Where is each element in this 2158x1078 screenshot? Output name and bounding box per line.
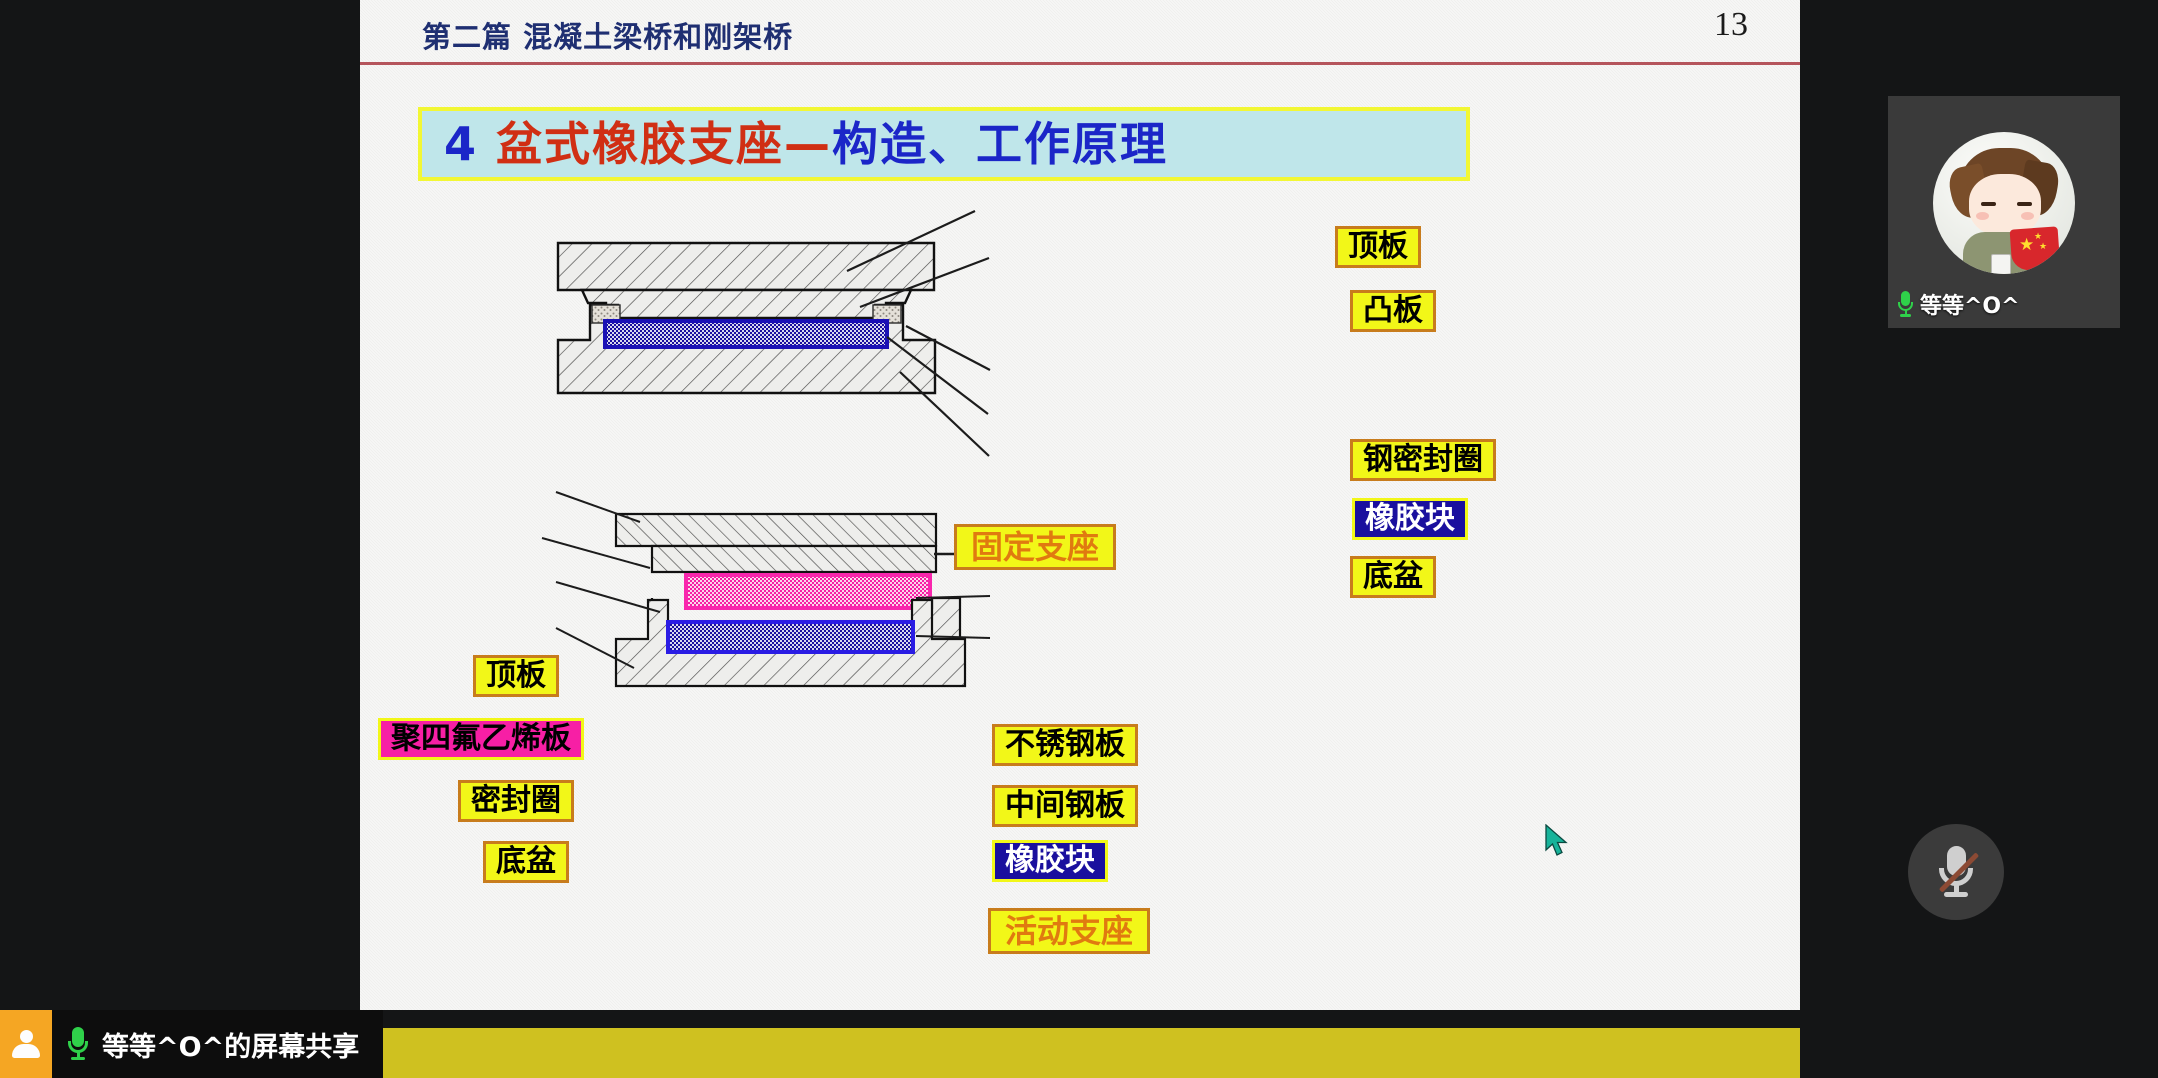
mute-toggle-button[interactable] <box>1908 824 2004 920</box>
shared-slide[interactable]: 第二篇 混凝土梁桥和刚架桥 13 4 盆式橡胶支座—构造、工作原理 <box>360 0 1800 1028</box>
title-red-part: 盆式橡胶支座— <box>478 117 832 171</box>
avatar: ★★★ <box>1933 132 2075 274</box>
label-steel-seal-ring: 钢密封圈 <box>1350 439 1496 481</box>
microphone-on-icon <box>68 1027 88 1061</box>
bottom-bar: 等等^O^的屏幕共享 <box>0 1010 2158 1078</box>
header-divider <box>360 62 1800 65</box>
microphone-muted-icon <box>1937 844 1975 900</box>
caption-fixed-bearing: 固定支座 <box>954 524 1116 570</box>
slide-header: 第二篇 混凝土梁桥和刚架桥 13 <box>360 0 1800 66</box>
label-bottom-basin-sliding: 底盆 <box>483 841 569 883</box>
person-icon <box>11 1029 41 1059</box>
screen-share-label: 等等^O^的屏幕共享 <box>102 1025 359 1064</box>
label-top-plate-fixed: 顶板 <box>1335 226 1421 268</box>
label-stainless-steel-plate: 不锈钢板 <box>992 724 1138 766</box>
label-seal-ring: 密封圈 <box>458 780 574 822</box>
video-rail: ★★★ 等等^O^ <box>1800 0 2158 1078</box>
title-number: 4 <box>444 117 478 171</box>
label-middle-steel-plate: 中间钢板 <box>992 785 1138 827</box>
page-title: 4 盆式橡胶支座—构造、工作原理 <box>422 121 1168 167</box>
slide-page-number: 13 <box>1714 6 1748 44</box>
user-avatar-chip[interactable] <box>0 1010 52 1078</box>
caption-sliding-bearing: 活动支座 <box>988 908 1150 954</box>
app-window: 第二篇 混凝土梁桥和刚架桥 13 4 盆式橡胶支座—构造、工作原理 <box>0 0 2158 1078</box>
title-blue-part: 构造、工作原理 <box>832 117 1168 171</box>
label-ptfe-plate: 聚四氟乙烯板 <box>378 718 584 760</box>
label-top-plate-sliding: 顶板 <box>473 655 559 697</box>
participant-name-row: 等等^O^ <box>1898 288 2020 320</box>
label-rubber-block-sliding: 橡胶块 <box>992 840 1108 882</box>
slide-header-title: 第二篇 混凝土梁桥和刚架桥 <box>422 14 793 56</box>
screen-share-indicator[interactable]: 等等^O^的屏幕共享 <box>52 1010 383 1078</box>
participant-name: 等等^O^ <box>1920 288 2020 320</box>
mouse-cursor <box>1544 824 1570 858</box>
slide-title-banner: 4 盆式橡胶支座—构造、工作原理 <box>418 107 1470 181</box>
participant-tile[interactable]: ★★★ 等等^O^ <box>1888 96 2120 328</box>
label-bottom-basin-fixed: 底盆 <box>1350 556 1436 598</box>
label-convex-plate: 凸板 <box>1350 290 1436 332</box>
label-rubber-block-fixed: 橡胶块 <box>1352 498 1468 540</box>
share-progress-strip <box>360 1028 1800 1078</box>
microphone-on-icon <box>1898 291 1913 317</box>
